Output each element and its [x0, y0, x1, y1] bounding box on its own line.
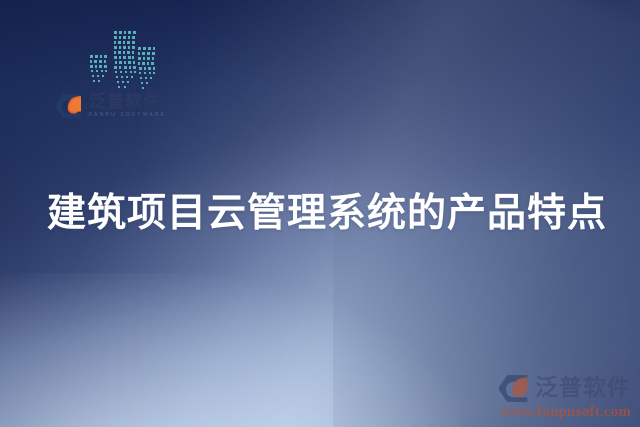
fanpu-logo-mark-icon [55, 93, 85, 119]
skyline-pixel [132, 46, 135, 49]
skyline-pixel [139, 67, 142, 70]
skyline-pixel [146, 82, 148, 84]
skyline-pixel [128, 46, 130, 49]
skyline-pixel [133, 61, 135, 64]
skyline-pixel [119, 66, 121, 69]
skyline-pixel [148, 47, 151, 50]
skyline-pixel [114, 51, 116, 54]
skyline-pixel [134, 71, 136, 73]
skyline-pixel [151, 62, 154, 65]
watermark-url: www.fanpusoft.com [498, 404, 634, 421]
skyline-pixel [123, 51, 125, 54]
skyline-pixel [142, 52, 145, 55]
skyline-pixel [99, 65, 102, 68]
fanpu-watermark-mark-icon [498, 374, 532, 403]
skyline-pixel [123, 36, 126, 39]
skyline-pixel [114, 66, 117, 69]
skyline-pixel [99, 60, 102, 63]
skyline-pixel [117, 81, 119, 83]
watermark: 泛普软件 www.fanpusoft.com [498, 374, 634, 421]
skyline-pixel [115, 71, 117, 73]
skyline-pixel [96, 70, 98, 72]
skyline-pixel [128, 31, 131, 34]
skyline-pixel [130, 71, 132, 73]
skyline-pixel [118, 41, 121, 44]
skyline-pixel [114, 41, 116, 44]
skyline-pixel [119, 46, 121, 49]
skyline-pixel [94, 60, 97, 63]
skyline-pixel [119, 61, 122, 64]
skyline-pixel [128, 56, 131, 59]
skyline-pixel [153, 47, 155, 50]
skyline-pixel [132, 41, 135, 44]
skyline-pixel [147, 52, 150, 55]
skyline-pixel [138, 52, 140, 55]
skyline-pixel [141, 82, 143, 84]
skyline-pixel [90, 65, 93, 68]
skyline-pixel [116, 76, 118, 78]
skyline-pixel [128, 36, 130, 39]
skyline-pixel [123, 41, 125, 44]
skyline-pixel [119, 56, 121, 59]
skyline-pixel [140, 77, 142, 79]
skyline-pixel [100, 55, 102, 58]
skyline-pixel [101, 70, 103, 72]
skyline-pixel [95, 65, 97, 68]
pixel-city-skyline-icon [84, 31, 164, 93]
skyline-pixel [153, 67, 155, 70]
skyline-pixel [105, 70, 107, 72]
skyline-pixel [139, 72, 141, 74]
skyline-pixel [118, 51, 121, 54]
skyline-pixel [133, 66, 136, 69]
skyline-pixel [127, 81, 129, 83]
skyline-pixel [133, 31, 136, 34]
skyline-pixel [123, 56, 126, 59]
skyline-pixel [124, 66, 127, 69]
skyline-pixel [132, 56, 134, 59]
skyline-pixel [98, 80, 100, 82]
watermark-brand-row: 泛普软件 [498, 374, 634, 403]
brand-name-cn: 泛普软件 [89, 94, 166, 111]
promo-banner: 泛普软件 FANPU SOFTWARE 建筑项目云管理系统的产品特点 泛普软件 … [0, 0, 640, 427]
skyline-pixel [132, 51, 134, 54]
skyline-pixel [91, 70, 93, 72]
page-title: 建筑项目云管理系统的产品特点 [47, 190, 607, 239]
skyline-pixel [144, 72, 146, 74]
skyline-pixel [152, 57, 154, 60]
skyline-pixel [93, 80, 95, 82]
skyline-pixel [119, 31, 122, 34]
skyline-pixel [115, 61, 117, 64]
skyline-pixel [145, 77, 147, 79]
skyline-pixel [147, 62, 149, 65]
skyline-pixel [114, 56, 117, 59]
skyline-pixel [144, 67, 146, 70]
skyline-pixel [142, 87, 144, 89]
skyline-pixel [128, 61, 131, 64]
skyline-pixel [104, 60, 106, 63]
watermark-brand-name: 泛普软件 [535, 377, 631, 400]
skyline-pixel [143, 47, 146, 50]
skyline-pixel [138, 62, 140, 65]
skyline-pixel [97, 75, 99, 77]
skyline-pixel [131, 76, 133, 78]
skyline-pixel [104, 55, 107, 58]
skyline-pixel [123, 46, 126, 49]
skyline-pixel [119, 36, 121, 39]
skyline-pixel [138, 57, 141, 60]
skyline-pixel [124, 61, 126, 64]
skyline-pixel [122, 81, 124, 83]
skyline-pixel [114, 46, 117, 49]
brand-name-en: FANPU SOFTWARE [89, 113, 166, 118]
skyline-pixel [120, 71, 122, 73]
skyline-pixel [150, 77, 152, 79]
brand-wordmark: 泛普软件 FANPU SOFTWARE [89, 94, 166, 118]
skyline-pixel [124, 31, 126, 34]
skyline-pixel [102, 75, 104, 77]
skyline-pixel [138, 47, 141, 50]
skyline-pixel [152, 52, 155, 55]
skyline-pixel [92, 75, 94, 77]
skyline-pixel [121, 76, 123, 78]
skyline-pixel [129, 66, 131, 69]
skyline-pixel [126, 76, 128, 78]
skyline-pixel [127, 41, 130, 44]
skyline-pixel [125, 71, 127, 73]
skyline-pixel [147, 57, 150, 60]
skyline-pixel [114, 31, 117, 34]
skyline-pixel [132, 36, 135, 39]
skyline-pixel [148, 67, 151, 70]
skyline-pixel [114, 36, 117, 39]
skyline-pixel [90, 55, 93, 58]
skyline-pixel [90, 60, 92, 63]
skyline-pixel [95, 55, 98, 58]
skyline-pixel [124, 86, 126, 88]
skyline-pixel [153, 72, 155, 74]
skyline-pixel [104, 65, 107, 68]
skyline-pixel [149, 72, 151, 74]
skyline-pixel [127, 51, 130, 54]
skyline-pixel [142, 62, 145, 65]
brand-logo: 泛普软件 FANPU SOFTWARE [55, 93, 166, 119]
skyline-pixel [118, 86, 120, 88]
skyline-pixel [143, 57, 145, 60]
